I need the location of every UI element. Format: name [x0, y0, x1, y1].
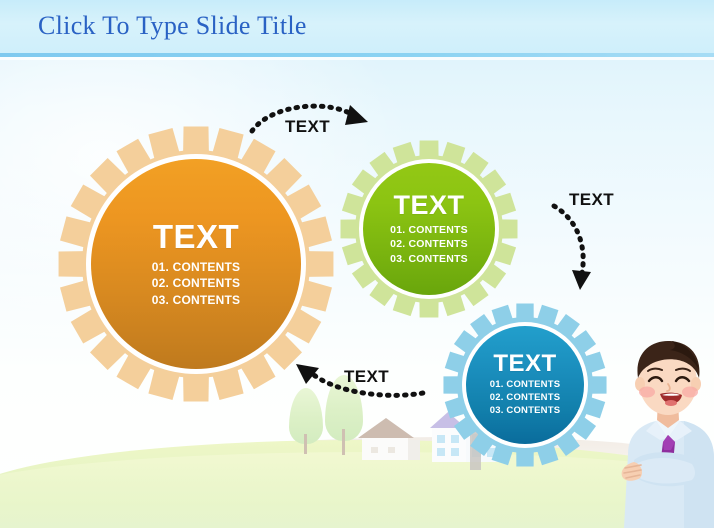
arrow-right: [548, 200, 602, 292]
gear-blue-item-3: 03. CONTENTS: [490, 405, 561, 418]
gear-green-item-3: 03. CONTENTS: [390, 252, 468, 266]
gear-blue-item-2: 02. CONTENTS: [490, 392, 561, 405]
gear-blue-heading: TEXT: [493, 352, 556, 376]
gear-green-core[interactable]: TEXT 01. CONTENTS 02. CONTENTS 03. CONTE…: [363, 163, 495, 295]
slide-title[interactable]: Click To Type Slide Title: [38, 11, 307, 41]
house-small: [352, 416, 430, 462]
gear-green-item-2: 02. CONTENTS: [390, 237, 468, 251]
gear-green-heading: TEXT: [393, 192, 464, 219]
gear-orange-item-3: 03. CONTENTS: [152, 292, 240, 308]
gear-blue[interactable]: TEXT 01. CONTENTS 02. CONTENTS 03. CONTE…: [443, 303, 607, 467]
gear-orange-heading: TEXT: [153, 220, 239, 253]
arrow-bottom-label: TEXT: [344, 367, 389, 387]
title-bar-rule-light: [0, 57, 714, 60]
gear-orange-item-2: 02. CONTENTS: [152, 275, 240, 291]
gear-blue-core[interactable]: TEXT 01. CONTENTS 02. CONTENTS 03. CONTE…: [466, 326, 584, 444]
gear-orange-item-1: 01. CONTENTS: [152, 259, 240, 275]
arrow-top-label: TEXT: [285, 117, 330, 137]
gear-green-item-1: 01. CONTENTS: [390, 223, 468, 237]
gear-green[interactable]: TEXT 01. CONTENTS 02. CONTENTS 03. CONTE…: [340, 140, 518, 318]
slide-canvas: TEXT 01. CONTENTS 02. CONTENTS 03. CONTE…: [0, 0, 714, 528]
arrow-right-label: TEXT: [569, 190, 614, 210]
gear-orange-core[interactable]: TEXT 01. CONTENTS 02. CONTENTS 03. CONTE…: [91, 159, 301, 369]
businessman-illustration: [612, 334, 714, 528]
gear-blue-item-1: 01. CONTENTS: [490, 379, 561, 392]
